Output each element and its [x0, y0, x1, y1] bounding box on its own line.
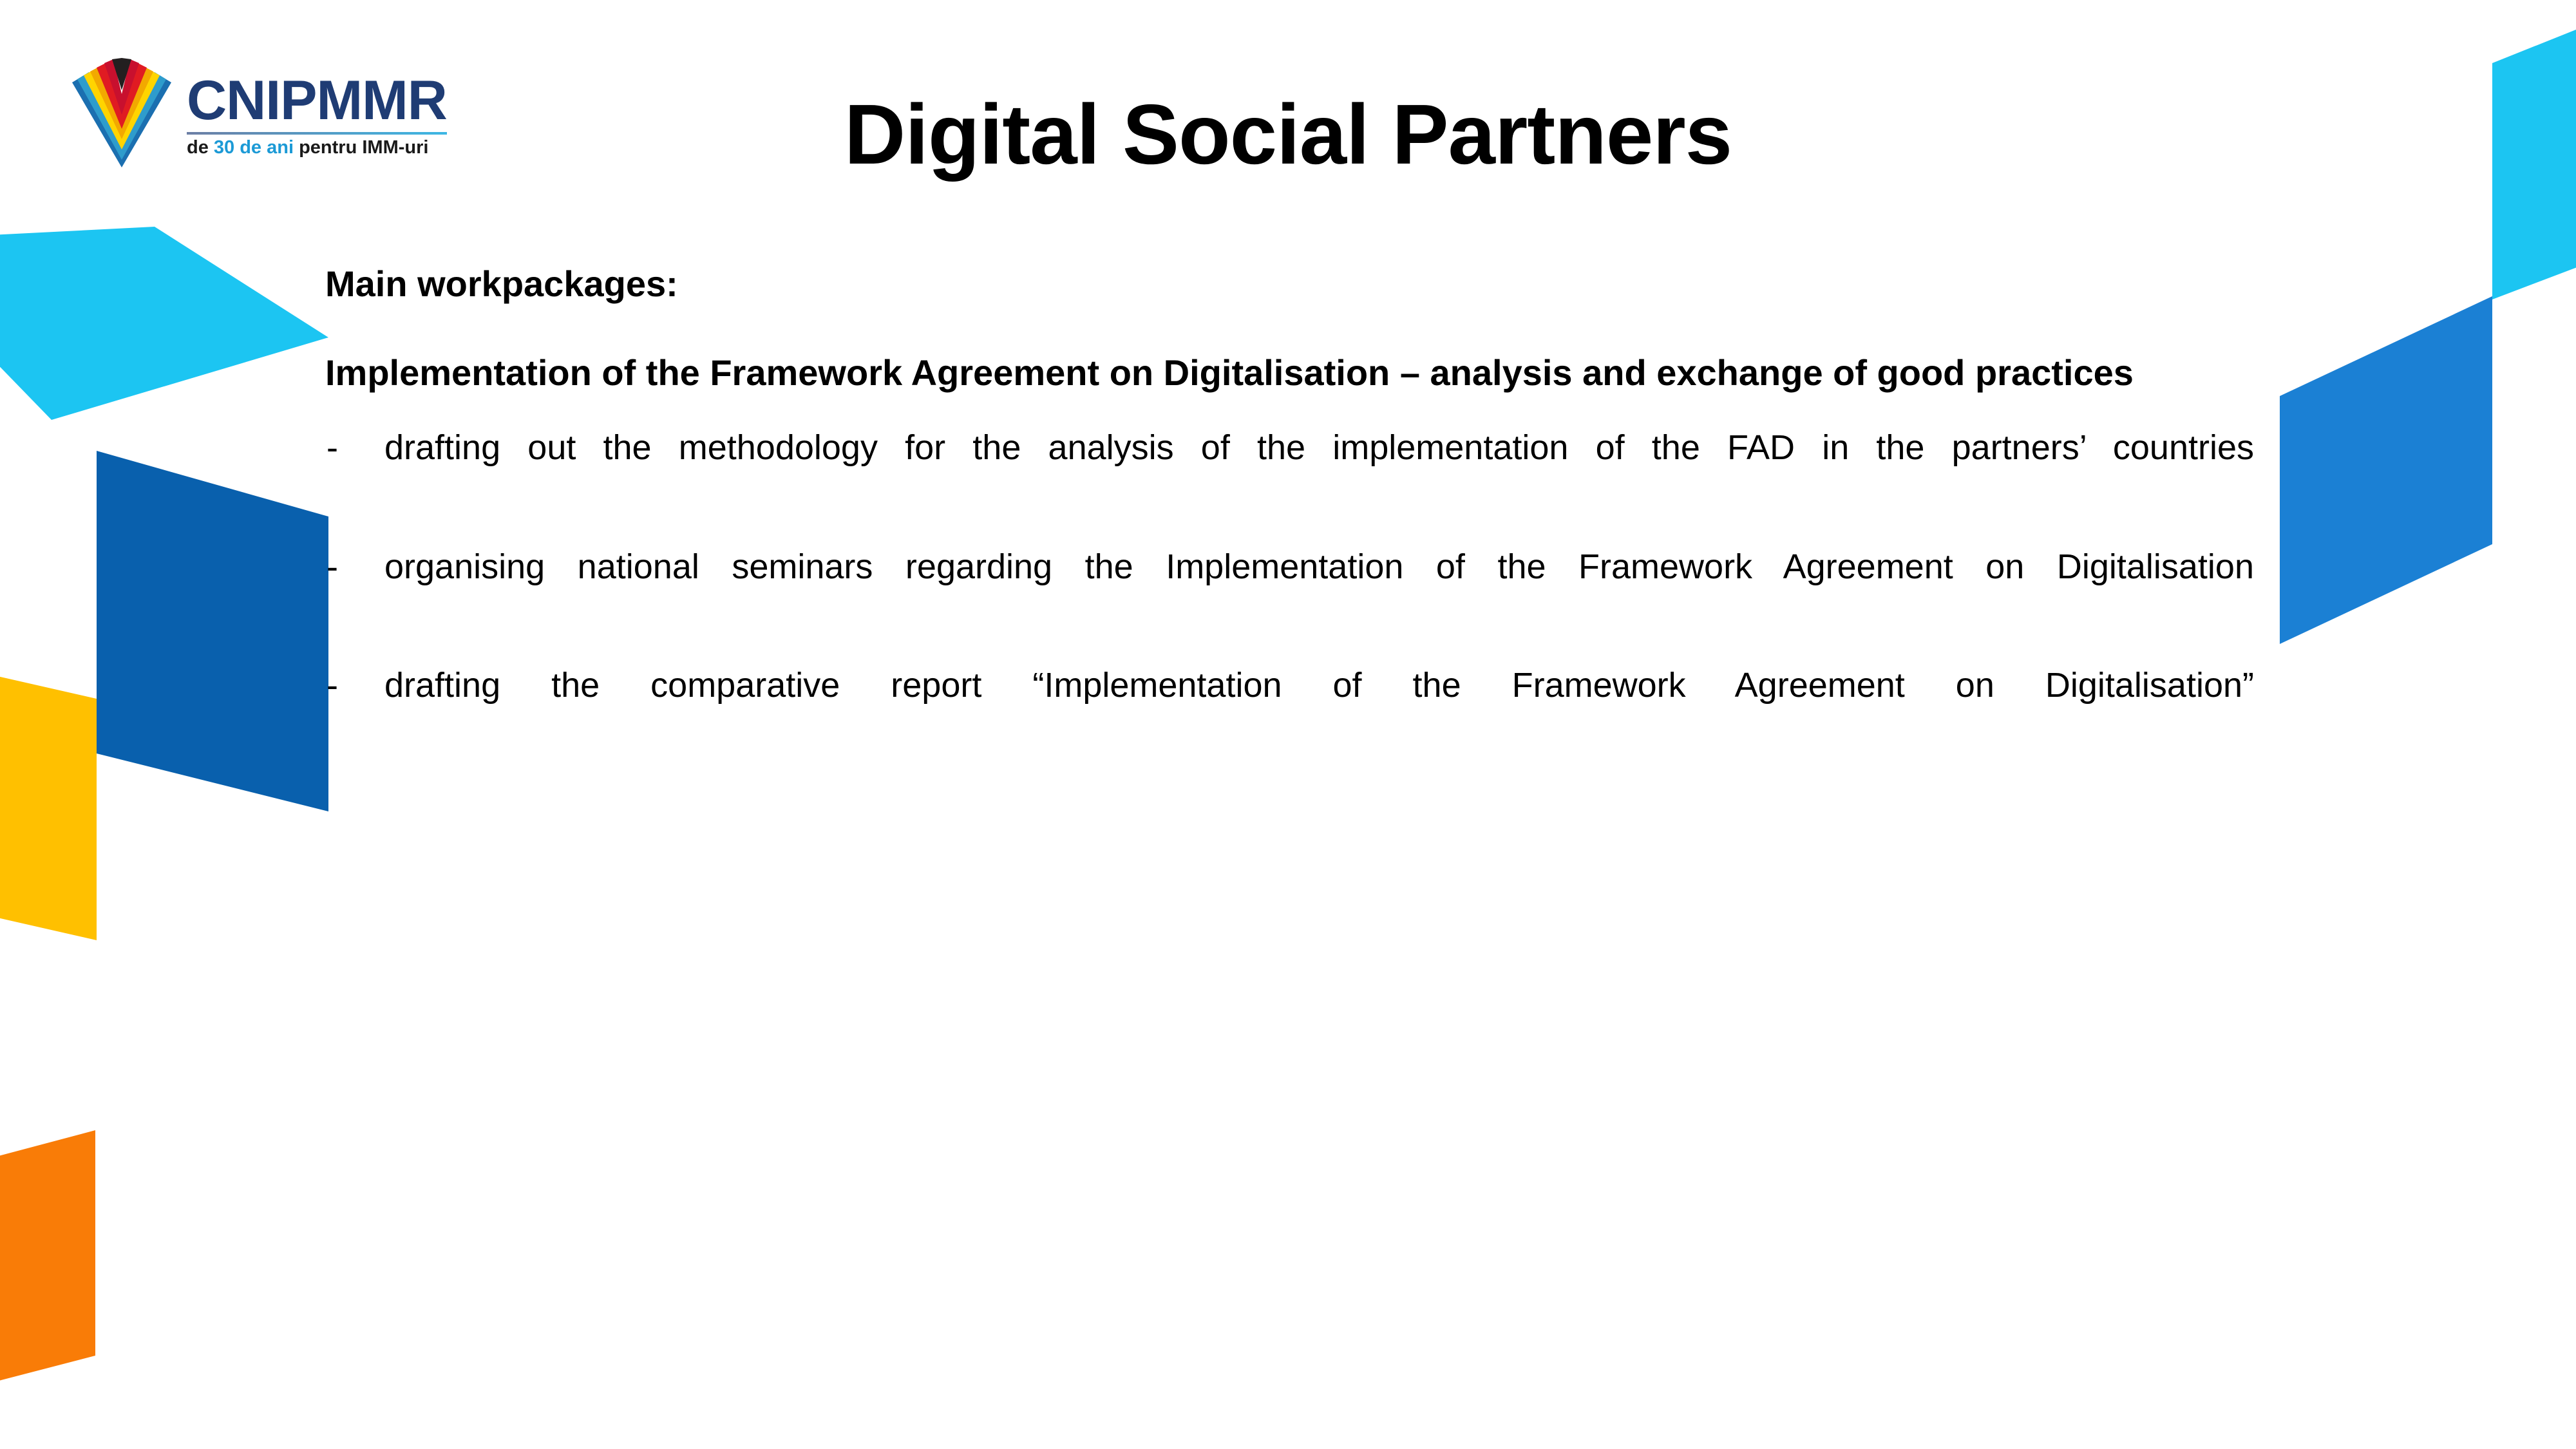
list-item: - drafting out the methodology for the a… [325, 425, 2254, 515]
bullet-text: drafting out the methodology for the ana… [384, 425, 2254, 515]
main-workpackages-heading: Main workpackages: [325, 261, 2254, 307]
bullet-marker: - [325, 544, 384, 589]
bullet-text: organising national seminars regarding t… [384, 544, 2254, 634]
decoration-left-yellow-parallelogram [0, 650, 103, 940]
list-item: - drafting the comparative report “Imple… [325, 663, 2254, 753]
slide-canvas: CNIPMMR de 30 de ani pentru IMM-uri Digi… [0, 0, 2576, 1449]
list-item: - organising national seminars regarding… [325, 544, 2254, 634]
decoration-left-orange-parallelogram [0, 1130, 103, 1414]
bullet-marker: - [325, 663, 384, 708]
bullet-text: drafting the comparative report “Impleme… [384, 663, 2254, 753]
decoration-left-cyan-parallelogram [0, 227, 328, 420]
workpackage-bullet-list: - drafting out the methodology for the a… [325, 425, 2254, 753]
framework-agreement-heading: Implementation of the Framework Agreemen… [325, 350, 2254, 396]
decoration-right-blue-parallelogram [2280, 296, 2576, 657]
page-title: Digital Social Partners [0, 90, 2576, 180]
bullet-marker: - [325, 425, 384, 470]
slide-body: Main workpackages: Implementation of the… [325, 261, 2254, 753]
